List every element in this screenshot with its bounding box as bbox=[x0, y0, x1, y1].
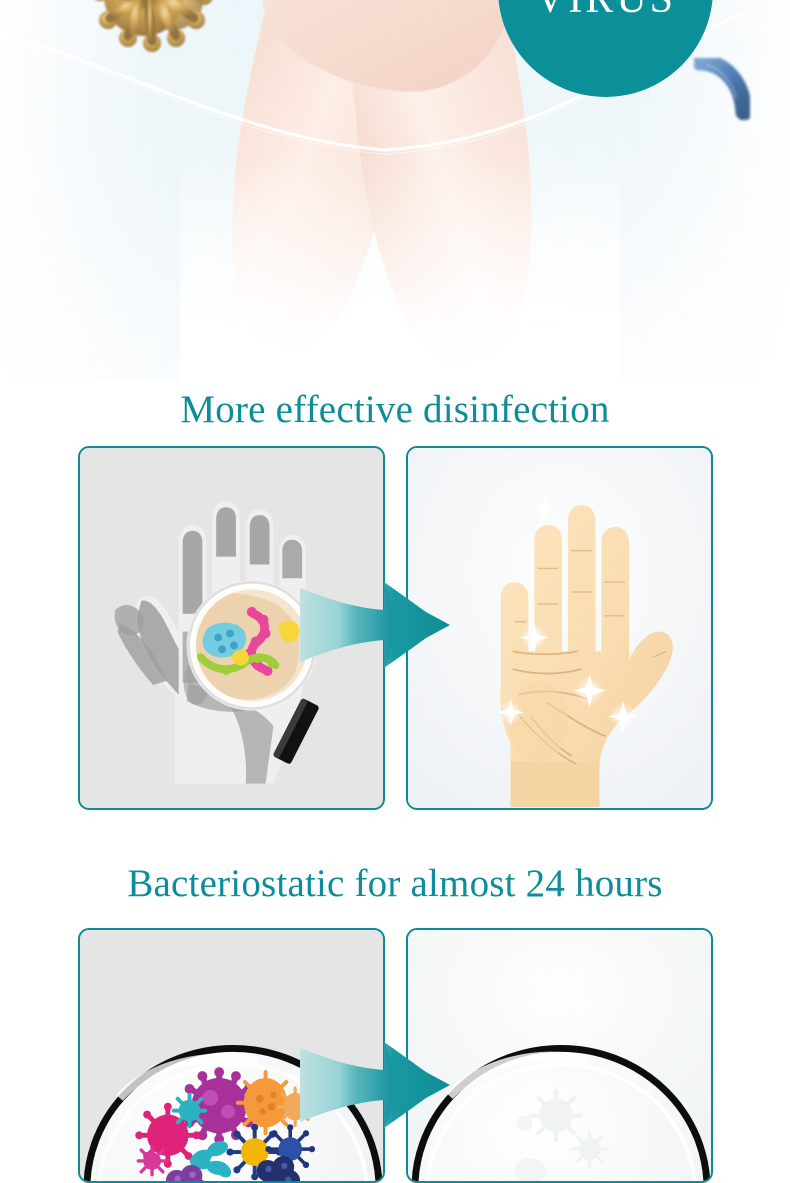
section-title-disinfection: More effective disinfection bbox=[0, 390, 790, 429]
virus-badge-label: VIRUS bbox=[498, 0, 713, 20]
panel-hand-with-germs bbox=[78, 446, 385, 810]
petri-dish-clean-illustration bbox=[408, 930, 711, 1182]
panel-petri-dish-many-bacteria bbox=[78, 928, 385, 1183]
product-detail-page: VIRUS More effective disinfection bbox=[0, 0, 790, 1183]
section-title-bacteriostatic: Bacteriostatic for almost 24 hours bbox=[0, 864, 790, 903]
clean-hand-illustration bbox=[408, 448, 711, 807]
hand-with-germs-illustration bbox=[80, 448, 383, 807]
panel-clean-hand bbox=[406, 446, 713, 810]
petri-dish-many-bacteria-illustration bbox=[80, 930, 383, 1182]
bacterium-rod-blue-icon bbox=[694, 58, 750, 120]
panel-petri-dish-clean bbox=[406, 928, 713, 1183]
hero-banner: VIRUS bbox=[0, 0, 790, 380]
virus-particle-gold-icon bbox=[78, 0, 218, 76]
